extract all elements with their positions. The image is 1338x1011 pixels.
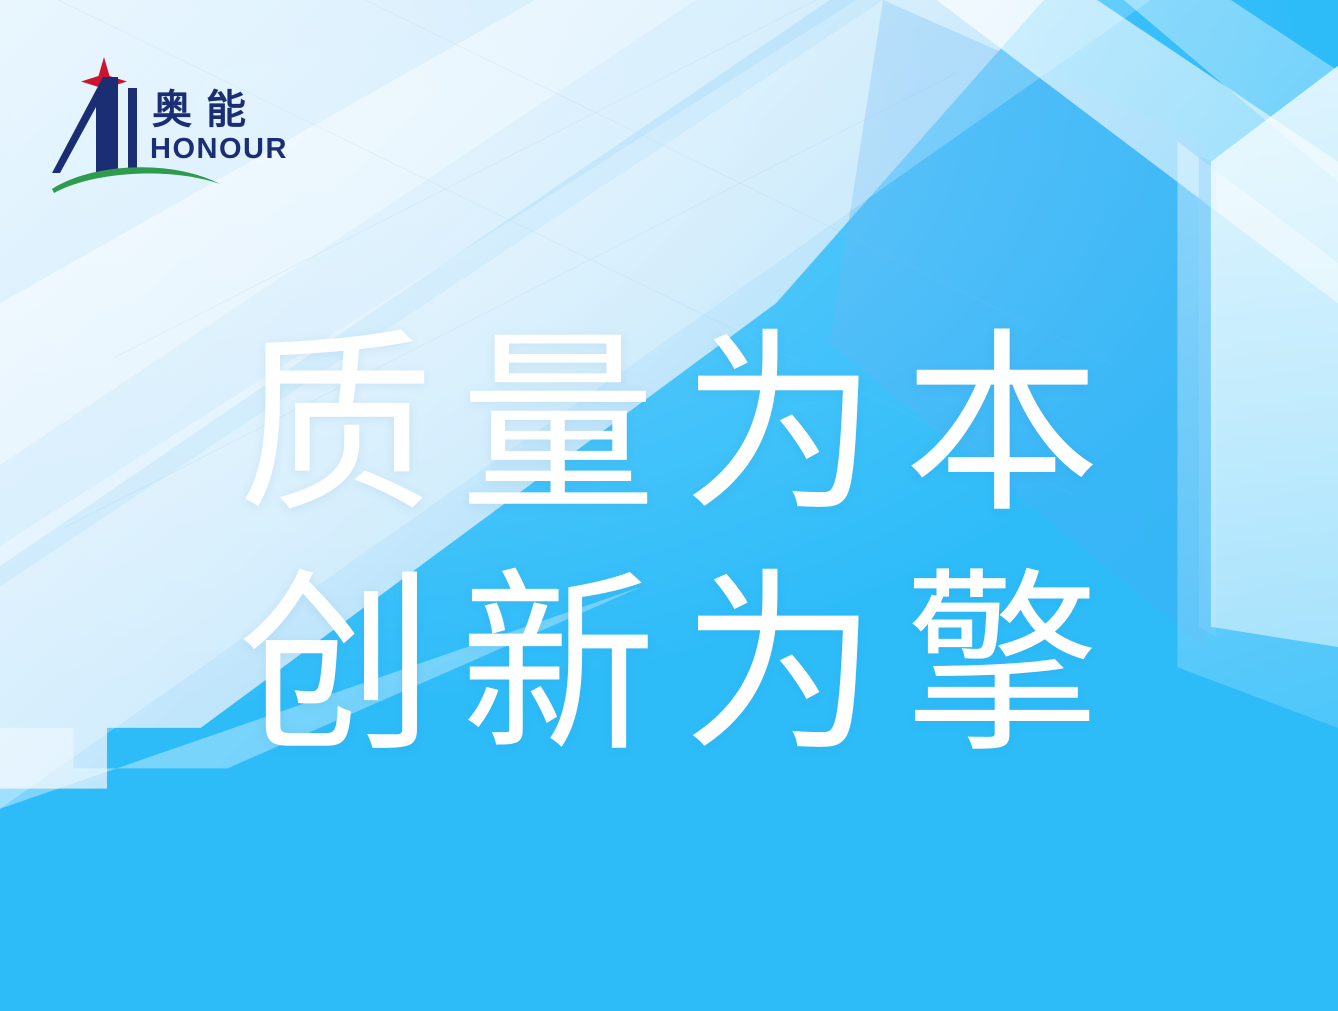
poster-canvas: 奥能 HONOUR 质量为本 创新为擎 (0, 0, 1338, 1011)
bar-icon (128, 88, 137, 173)
slogan-block: 质量为本 创新为擎 (0, 306, 1338, 786)
arc-icon (52, 167, 220, 193)
slogan-line-1: 质量为本 (0, 306, 1338, 546)
logo-english-text: HONOUR (150, 133, 288, 165)
logo-chinese-text: 奥能 (152, 87, 260, 133)
company-logo: 奥能 HONOUR (52, 55, 312, 200)
peak-icon (52, 77, 118, 173)
slogan-line-2: 创新为擎 (0, 546, 1338, 786)
